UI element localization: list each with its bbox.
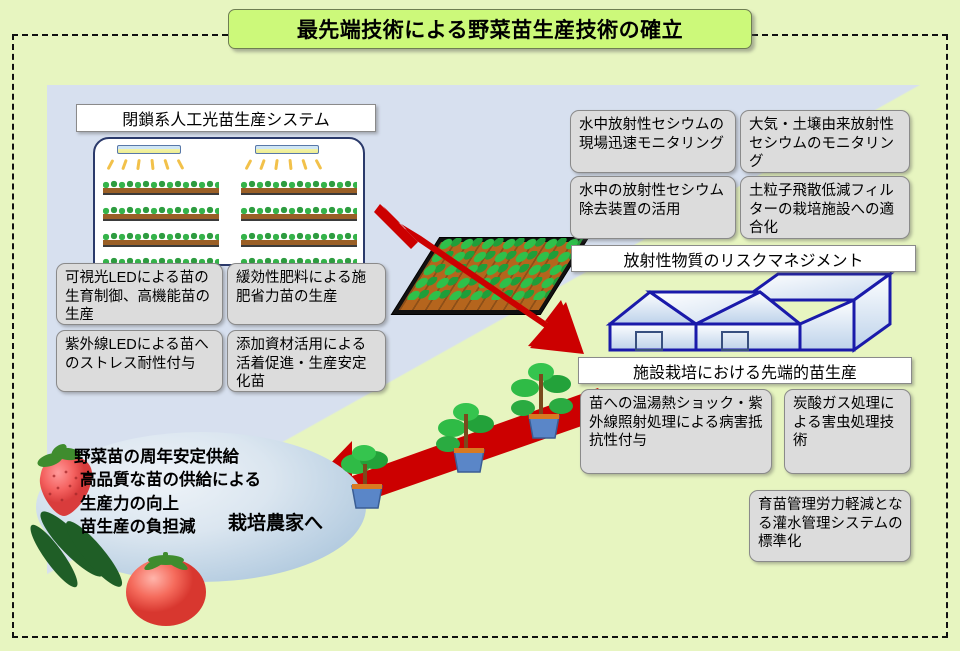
page-title-label: 最先端技術による野菜苗生産技術の確立 [297,14,683,44]
box-uv-led[interactable]: 紫外線LEDによる苗へのストレス耐性付与 [56,330,223,392]
seedling-row-icon [103,232,219,247]
seedling-row-icon [241,206,357,221]
seedling-row-icon [241,180,357,195]
box-irrigation-standardization-label: 育苗管理労力軽減となる灌水管理システムの標準化 [758,497,903,550]
closed-system-caption: 閉鎖系人工光苗生産システム [76,104,376,132]
box-soil-particle-filter[interactable]: 土粒子飛散低減フィルターの栽培施設への適合化 [740,176,910,239]
page-title: 最先端技術による野菜苗生産技術の確立 [228,9,752,49]
outcome-line-1: 野菜苗の周年安定供給 [74,446,374,469]
outcome-line-2: 高品質な苗の供給による [74,469,374,492]
box-slow-release-fertilizer[interactable]: 緩効性肥料による施肥省力苗の生産 [227,263,386,325]
light-ray-icon [163,159,169,170]
seedling-row-icon [103,206,219,221]
diagram-root: 最先端技術による野菜苗生産技術の確立 閉鎖系人工光苗生産システム [0,0,960,651]
facility-cultivation-caption: 施設栽培における先端的苗生産 [578,357,912,384]
box-visible-led[interactable]: 可視光LEDによる苗の生育制御、高機能苗の生産 [56,263,223,325]
outcome-text: 野菜苗の周年安定供給 高品質な苗の供給による 生産力の向上 苗生産の負担減 [74,446,374,540]
light-ray-icon [315,159,322,170]
closed-system-caption-label: 閉鎖系人工光苗生産システム [122,106,330,130]
greenhouse-icon [600,272,900,358]
tomato-icon [118,546,216,630]
box-additive-material[interactable]: 添加資材活用による活着促進・生産安定化苗 [227,330,386,392]
light-ray-icon [274,159,278,170]
box-air-soil-cesium-monitoring[interactable]: 大気・土壌由来放射性セシウムのモニタリング [740,110,910,173]
box-slow-release-fertilizer-label: 緩効性肥料による施肥省力苗の生産 [236,270,366,305]
light-ray-icon [259,159,265,170]
box-water-cesium-removal-label: 水中の放射性セシウム除去装置の活用 [579,183,724,218]
light-ray-icon [177,159,184,170]
light-ray-icon [121,159,127,170]
outcome-line-3: 生産力の向上 [74,493,374,516]
radioactivity-caption: 放射性物質のリスクマネジメント [571,245,916,272]
to-farmer-label: 栽培農家へ [228,508,323,535]
light-ray-icon [245,159,252,170]
led-lamp-icon [117,145,181,154]
outcome-line-4: 苗生産の負担減 [74,516,374,539]
box-water-cesium-monitoring-label: 水中放射性セシウムの現場迅速モニタリング [579,117,724,152]
box-additive-material-label: 添加資材活用による活着促進・生産安定化苗 [236,337,367,390]
seedling-row-icon [241,232,357,247]
light-ray-icon [301,159,307,170]
box-irrigation-standardization[interactable]: 育苗管理労力軽減となる灌水管理システムの標準化 [749,490,911,562]
box-visible-led-label: 可視光LEDによる苗の生育制御、高機能苗の生産 [65,270,210,323]
light-ray-icon [136,159,140,170]
facility-cultivation-caption-label: 施設栽培における先端的苗生産 [633,359,857,383]
potted-seedling-icon [505,362,587,452]
potted-seedling-icon [430,400,510,486]
box-water-cesium-monitoring[interactable]: 水中放射性セシウムの現場迅速モニタリング [570,110,736,173]
radioactivity-caption-label: 放射性物質のリスクマネジメント [623,247,863,271]
light-ray-icon [288,159,292,170]
closed-system-illustration [93,137,365,266]
light-ray-icon [150,159,154,170]
box-hot-water-uv-treatment-label: 苗への温湯熱ショック・紫外線照射処理による病害抵抗性付与 [589,396,763,449]
box-uv-led-label: 紫外線LEDによる苗へのストレス耐性付与 [65,337,209,372]
light-ray-icon [107,159,114,170]
box-co2-pest-treatment[interactable]: 炭酸ガス処理による害虫処理技術 [784,389,911,474]
box-co2-pest-treatment-label: 炭酸ガス処理による害虫処理技術 [793,396,895,449]
box-soil-particle-filter-label: 土粒子飛散低減フィルターの栽培施設への適合化 [749,183,894,236]
box-air-soil-cesium-monitoring-label: 大気・土壌由来放射性セシウムのモニタリング [749,117,894,170]
seedling-row-icon [103,180,219,195]
led-lamp-icon [255,145,319,154]
box-water-cesium-removal[interactable]: 水中の放射性セシウム除去装置の活用 [570,176,736,239]
box-hot-water-uv-treatment[interactable]: 苗への温湯熱ショック・紫外線照射処理による病害抵抗性付与 [580,389,772,474]
